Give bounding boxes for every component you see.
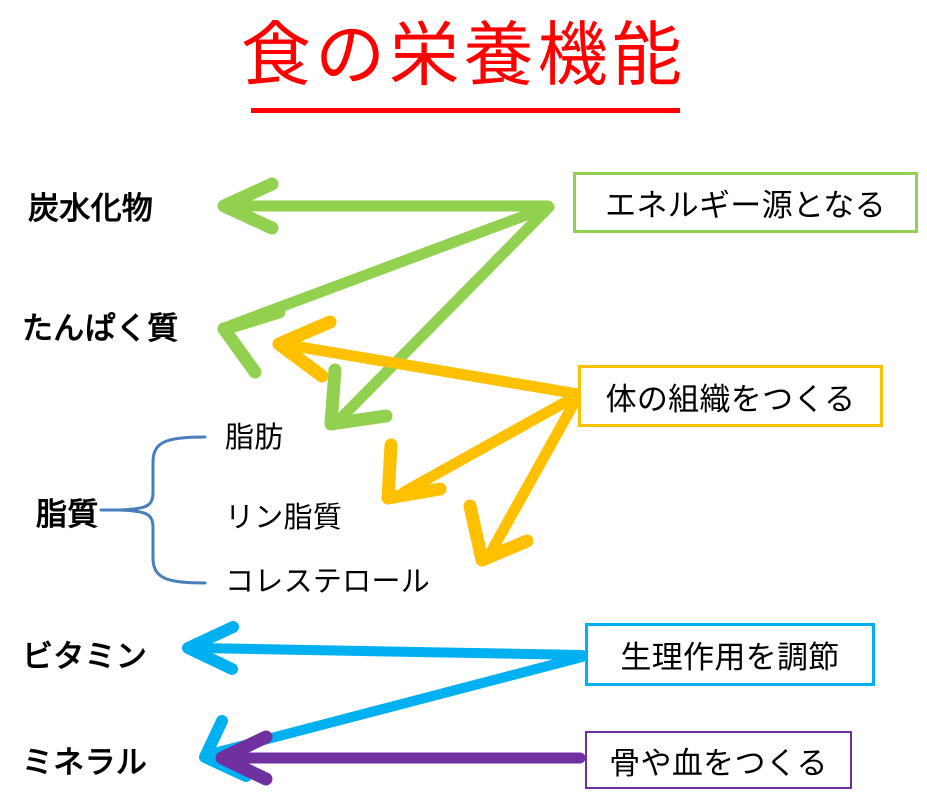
arrow-orange-to-phospholipid	[388, 395, 578, 498]
function-box-physiological-regulation-label: 生理作用を調節	[620, 632, 839, 677]
function-box-energy[interactable]: エネルギー源となる	[573, 172, 918, 233]
arrow-green-to-protein	[224, 207, 548, 372]
function-box-energy-label: エネルギー源となる	[605, 180, 886, 225]
nutrient-label-vitamin: ビタミン	[22, 631, 147, 676]
page-title-underline	[251, 108, 680, 113]
arrow-green-to-carbohydrate	[224, 184, 548, 228]
arrow-purple-to-mineral	[222, 737, 580, 779]
function-box-bone-blood[interactable]: 骨や血をつくる	[585, 731, 852, 789]
arrow-orange-to-cholesterol	[470, 396, 578, 560]
nutrient-label-mineral: ミネラル	[22, 737, 147, 782]
slide-canvas: 食の栄養機能	[0, 0, 927, 804]
lipid-subitem-cholesterol: コレステロール	[225, 558, 430, 600]
lipid-brace	[101, 437, 205, 583]
function-box-bone-blood-label: 骨や血をつくる	[609, 738, 828, 783]
function-box-body-tissue-label: 体の組織をつくる	[606, 374, 856, 419]
lipid-subitem-phospholipid: リン脂質	[225, 494, 342, 536]
arrow-orange-to-protein	[279, 322, 578, 394]
function-box-body-tissue[interactable]: 体の組織をつくる	[578, 365, 883, 427]
function-box-physiological-regulation[interactable]: 生理作用を調節	[585, 623, 875, 686]
arrow-green-to-fat	[331, 207, 549, 424]
lipid-subitem-fat: 脂肪	[225, 414, 284, 456]
page-title: 食の栄養機能	[0, 18, 927, 95]
nutrient-label-protein: たんぱく質	[22, 303, 179, 348]
nutrient-label-lipid: 脂質	[36, 489, 99, 534]
nutrient-label-carbohydrate: 炭水化物	[28, 183, 153, 228]
arrow-blue-to-vitamin	[188, 627, 582, 669]
arrow-blue-to-mineral	[205, 657, 582, 776]
